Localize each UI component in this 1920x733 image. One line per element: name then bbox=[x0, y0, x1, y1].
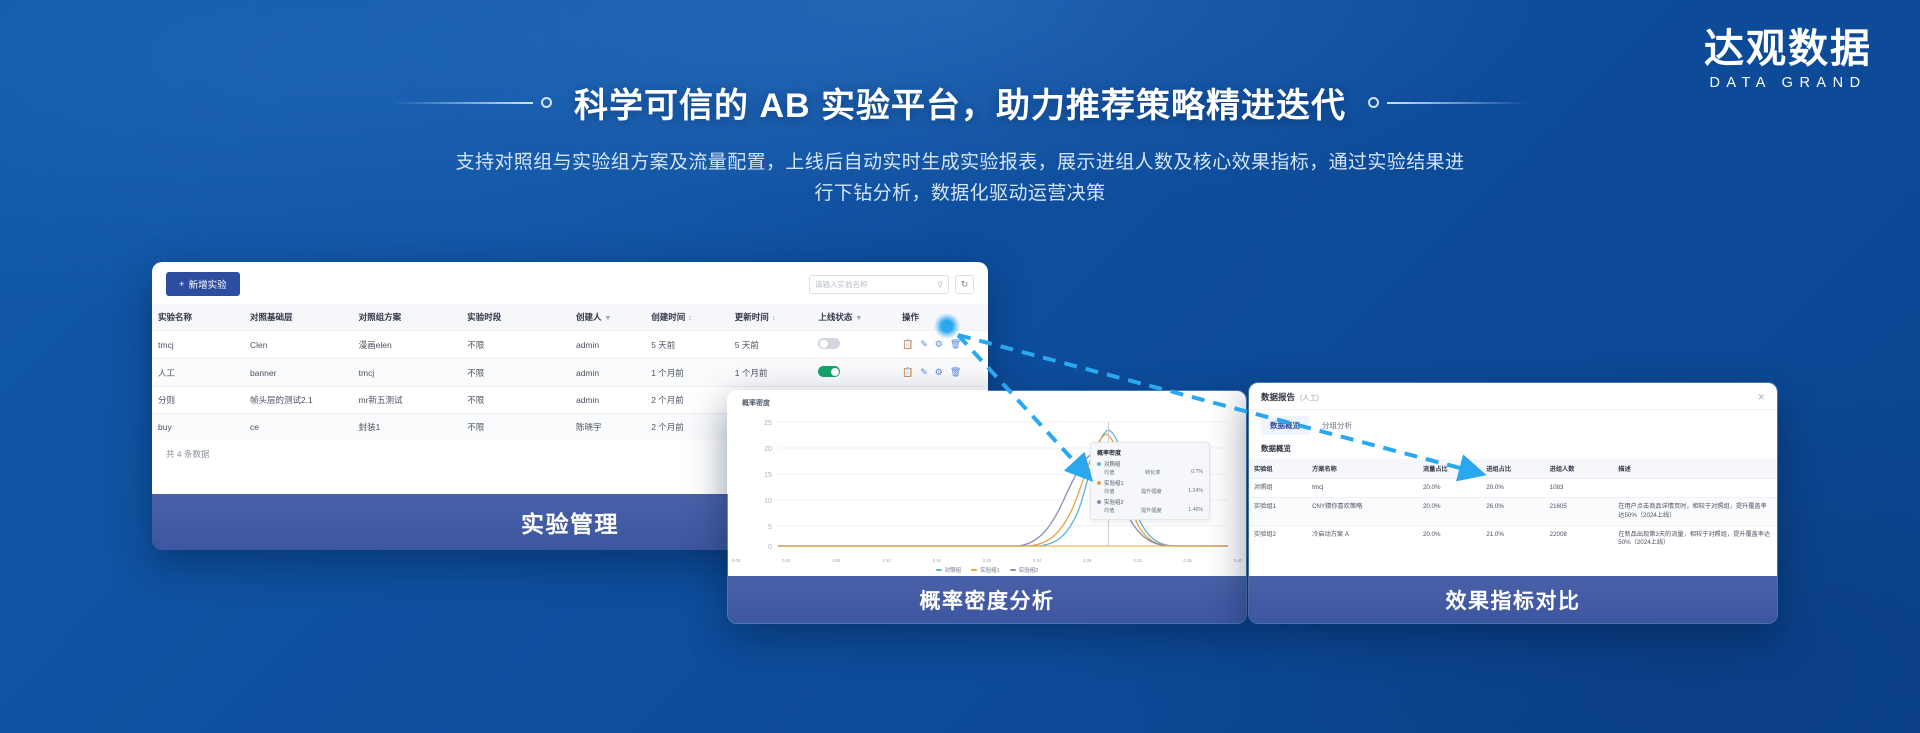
chart-tooltip: 概率密度 对照组 均值 转化率 0.7% 实验组1 均值 提升幅度 1 bbox=[1090, 442, 1210, 520]
cell-created: 5 天前 bbox=[645, 331, 729, 359]
cell-period: 不限 bbox=[461, 359, 570, 387]
col-updated[interactable]: 更新时间↕ bbox=[729, 304, 813, 331]
col-online[interactable]: 上线状态▼ bbox=[812, 304, 896, 331]
cell-online[interactable] bbox=[812, 331, 896, 359]
table-row[interactable]: 对照组 tmcj 20.0% 20.0% 1083 bbox=[1249, 479, 1777, 498]
cell-users: 22008 bbox=[1545, 526, 1614, 553]
col-traffic: 流量占比 bbox=[1418, 459, 1481, 479]
tooltip-series: 实验组1 bbox=[1104, 479, 1124, 487]
svg-text:15: 15 bbox=[764, 472, 772, 479]
copy-icon[interactable]: 📋 bbox=[902, 339, 913, 350]
page-subtitle: 支持对照组与实验组方案及流量配置，上线后自动实时生成实验报表，展示进组人数及核心… bbox=[250, 148, 1670, 210]
cell-updated: 1 个月前 bbox=[729, 359, 813, 387]
copy-icon[interactable]: 📋 bbox=[902, 367, 913, 378]
cell-layer: ce bbox=[244, 414, 353, 441]
tab-overview[interactable]: 数据概览 bbox=[1261, 416, 1309, 435]
table-row[interactable]: 人工 banner tmcj 不限 admin 1 个月前 1 个月前 📋 ✎ … bbox=[152, 359, 988, 387]
tooltip-detail: 均值 转化率 0.7% bbox=[1097, 469, 1203, 476]
legend-line-icon bbox=[1010, 569, 1016, 571]
search-input[interactable]: 请输入实验名称 ⚲ bbox=[809, 275, 949, 294]
report-icon[interactable]: ⚙ bbox=[935, 339, 943, 350]
cell-owner: 陈晓宇 bbox=[570, 414, 645, 441]
sort-icon[interactable]: ↕ bbox=[772, 315, 776, 322]
svg-text:20: 20 bbox=[764, 446, 772, 453]
tooltip-entry: 对照组 bbox=[1097, 460, 1203, 468]
heading-rule-right bbox=[1368, 97, 1527, 108]
cell-group: 对照组 bbox=[1249, 479, 1307, 498]
col-created[interactable]: 创建时间↕ bbox=[645, 304, 729, 331]
legend-swatch-icon bbox=[1097, 500, 1101, 504]
cell-name: tmcj bbox=[152, 331, 244, 359]
table-row[interactable]: tmcj Clen 漫画elen 不限 admin 5 天前 5 天前 📋 ✎ … bbox=[152, 331, 988, 359]
svg-text:5: 5 bbox=[768, 524, 772, 531]
page-heading: 科学可信的 AB 实验平台，助力推荐策略精进迭代 bbox=[0, 78, 1920, 127]
cell-plan: tmcj bbox=[353, 359, 462, 387]
heading-rule-left bbox=[393, 97, 552, 108]
cell-owner: admin bbox=[570, 359, 645, 387]
online-toggle[interactable] bbox=[818, 338, 840, 349]
cell-created: 2 个月前 bbox=[645, 387, 729, 414]
cell-users: 1083 bbox=[1545, 479, 1614, 498]
col-name: 实验名称 bbox=[152, 304, 244, 331]
brand-name-cn: 达观数据 bbox=[1704, 28, 1872, 71]
search-placeholder: 请输入实验名称 bbox=[815, 279, 868, 290]
cell-name: buy bbox=[152, 414, 244, 441]
cell-updated: 5 天前 bbox=[729, 331, 813, 359]
modal-header: 数据报告(人工) ✕ bbox=[1249, 383, 1777, 410]
effect-screenshot: 数据报告(人工) ✕ 数据概览 分组分析 数据概览 实验组 方案名称 流量占比 … bbox=[1249, 383, 1777, 576]
cell-period: 不限 bbox=[461, 414, 570, 441]
sort-icon[interactable]: ↕ bbox=[688, 315, 692, 322]
legend-swatch-icon bbox=[1097, 462, 1101, 466]
subtitle-line-1: 支持对照组与实验组方案及流量配置，上线后自动实时生成实验报表，展示进组人数及核心… bbox=[250, 148, 1670, 179]
card-caption-density: 概率密度分析 bbox=[728, 576, 1246, 623]
tab-group-analysis[interactable]: 分组分析 bbox=[1313, 416, 1361, 435]
filter-icon[interactable]: ▼ bbox=[855, 315, 862, 322]
edit-icon[interactable]: ✎ bbox=[920, 339, 928, 350]
density-screenshot: 概率密度 252015 1050 概率密度 bbox=[728, 391, 1246, 576]
col-group: 实验组 bbox=[1249, 459, 1307, 479]
tooltip-entry: 实验组2 bbox=[1097, 498, 1203, 506]
cell-traffic: 20.0% bbox=[1418, 498, 1481, 526]
cell-desc: 在用户点击商品详情页时，相较于对照组，提升覆盖率达50%（2024上线） bbox=[1613, 498, 1777, 526]
cell-period: 不限 bbox=[461, 387, 570, 414]
cell-users: 21605 bbox=[1545, 498, 1614, 526]
col-enter: 进组占比 bbox=[1481, 459, 1544, 479]
card-effect-metrics[interactable]: 数据报告(人工) ✕ 数据概览 分组分析 数据概览 实验组 方案名称 流量占比 … bbox=[1248, 382, 1778, 624]
cell-plan-name: 冷启动方案 A bbox=[1307, 526, 1418, 553]
cell-online[interactable] bbox=[812, 359, 896, 387]
tooltip-detail: 均值 提升幅度 1.46% bbox=[1097, 507, 1203, 514]
legend-item[interactable]: 实验组2 bbox=[1010, 566, 1039, 574]
cell-owner: admin bbox=[570, 331, 645, 359]
cell-name: 人工 bbox=[152, 359, 244, 387]
experiment-table-header: 实验名称 对照基础层 对照组方案 实验时段 创建人▼ 创建时间↕ 更新时间↕ 上… bbox=[152, 304, 988, 331]
search-icon[interactable]: ⚲ bbox=[938, 280, 944, 289]
new-experiment-button[interactable]: + 新增实验 bbox=[166, 272, 240, 296]
cell-desc bbox=[1613, 479, 1777, 498]
delete-icon[interactable]: 🗑 bbox=[950, 367, 961, 378]
cell-ops: 📋 ✎ ⚙ 🗑 bbox=[896, 359, 988, 387]
cell-plan: 封装1 bbox=[353, 414, 462, 441]
cell-owner: admin bbox=[570, 387, 645, 414]
page-title: 科学可信的 AB 实验平台，助力推荐策略精进迭代 bbox=[574, 78, 1346, 127]
cell-plan: 漫画elen bbox=[353, 331, 462, 359]
table-row[interactable]: 实验组2 冷启动方案 A 20.0% 21.0% 22008 在新品出现第3天的… bbox=[1249, 526, 1777, 553]
table-row[interactable]: 实验组1 CNY猜你喜欢策略 20.0% 26.0% 21605 在用户点击商品… bbox=[1249, 498, 1777, 526]
tooltip-series: 实验组2 bbox=[1104, 498, 1124, 506]
density-chart: 252015 1050 概率密度 对照组 均值 转化率 0.7% bbox=[738, 410, 1236, 560]
tooltip-title: 概率密度 bbox=[1097, 448, 1203, 457]
col-period: 实验时段 bbox=[461, 304, 570, 331]
edit-icon[interactable]: ✎ bbox=[920, 367, 928, 378]
cell-layer: 帧头层的测试2.1 bbox=[244, 387, 353, 414]
cell-enter: 20.0% bbox=[1481, 479, 1544, 498]
online-toggle[interactable] bbox=[818, 366, 840, 377]
cell-plan-name: tmcj bbox=[1307, 479, 1418, 498]
subtitle-line-2: 行下钻分析，数据化驱动运营决策 bbox=[250, 179, 1670, 210]
plus-icon: + bbox=[179, 279, 185, 290]
cell-name: 分则 bbox=[152, 387, 244, 414]
experiment-toolbar: + 新增实验 请输入实验名称 ⚲ ↻ bbox=[152, 262, 988, 304]
modal-title: 数据报告(人工) bbox=[1261, 391, 1319, 403]
cell-plan-name: CNY猜你喜欢策略 bbox=[1307, 498, 1418, 526]
tooltip-detail: 均值 提升幅度 1.24% bbox=[1097, 488, 1203, 495]
card-probability-density[interactable]: 概率密度 252015 1050 概率密度 bbox=[727, 390, 1247, 624]
tooltip-series: 对照组 bbox=[1104, 460, 1121, 468]
cell-created: 2 个月前 bbox=[645, 414, 729, 441]
cell-traffic: 20.0% bbox=[1418, 526, 1481, 553]
svg-text:25: 25 bbox=[764, 420, 772, 427]
col-plan-name: 方案名称 bbox=[1307, 459, 1418, 479]
card-caption-effect: 效果指标对比 bbox=[1249, 576, 1777, 623]
close-icon[interactable]: ✕ bbox=[1757, 392, 1765, 403]
experiment-search-group: 请输入实验名称 ⚲ ↻ bbox=[809, 275, 974, 294]
svg-text:10: 10 bbox=[764, 498, 772, 505]
svg-text:0: 0 bbox=[768, 544, 772, 551]
cell-enter: 21.0% bbox=[1481, 526, 1544, 553]
col-desc: 描述 bbox=[1613, 459, 1777, 479]
cell-enter: 26.0% bbox=[1481, 498, 1544, 526]
col-owner[interactable]: 创建人▼ bbox=[570, 304, 645, 331]
refresh-icon[interactable]: ↻ bbox=[955, 275, 974, 294]
cell-layer: banner bbox=[244, 359, 353, 387]
cell-group: 实验组1 bbox=[1249, 498, 1307, 526]
modal-tabs: 数据概览 分组分析 bbox=[1249, 410, 1777, 435]
col-users: 进组人数 bbox=[1545, 459, 1614, 479]
legend-item[interactable]: 对照组 bbox=[936, 566, 962, 574]
cell-traffic: 20.0% bbox=[1418, 479, 1481, 498]
cell-plan: mr新五测试 bbox=[353, 387, 462, 414]
legend-line-icon bbox=[936, 569, 942, 571]
col-plan: 对照组方案 bbox=[353, 304, 462, 331]
legend-line-icon bbox=[971, 569, 977, 571]
cell-period: 不限 bbox=[461, 331, 570, 359]
legend-swatch-icon bbox=[1097, 481, 1101, 485]
chart-legend: 对照组 实验组1 实验组2 bbox=[728, 566, 1246, 574]
cell-layer: Clen bbox=[244, 331, 353, 359]
report-icon[interactable]: ⚙ bbox=[935, 367, 943, 378]
delete-icon[interactable]: 🗑 bbox=[950, 339, 961, 350]
legend-item[interactable]: 实验组1 bbox=[971, 566, 1000, 574]
chart-title: 概率密度 bbox=[728, 391, 1246, 408]
section-title: 数据概览 bbox=[1249, 435, 1777, 459]
filter-icon[interactable]: ▼ bbox=[604, 315, 611, 322]
new-experiment-label: 新增实验 bbox=[189, 277, 227, 291]
effect-table: 实验组 方案名称 流量占比 进组占比 进组人数 描述 对照组 tmcj 20.0… bbox=[1249, 459, 1777, 553]
effect-table-header: 实验组 方案名称 流量占比 进组占比 进组人数 描述 bbox=[1249, 459, 1777, 479]
tooltip-entry: 实验组1 bbox=[1097, 479, 1203, 487]
cell-desc: 在新品出现第3天的流量，相较于对照组，提升覆盖率达50%（2024上线） bbox=[1613, 526, 1777, 553]
cell-created: 1 个月前 bbox=[645, 359, 729, 387]
col-layer: 对照基础层 bbox=[244, 304, 353, 331]
hotspot-pulse-icon bbox=[934, 313, 960, 339]
cell-group: 实验组2 bbox=[1249, 526, 1307, 553]
